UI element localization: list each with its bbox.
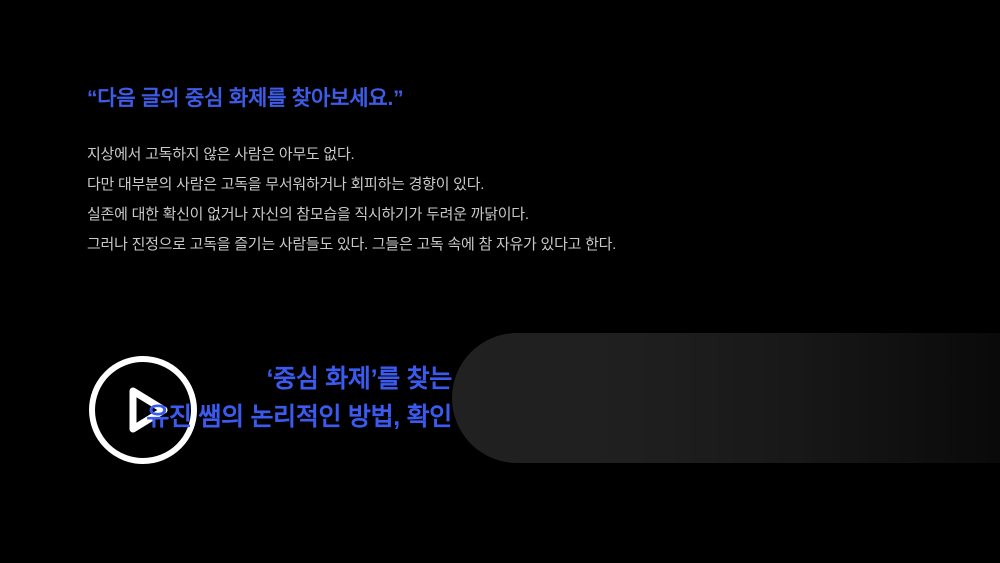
cta-pill-banner[interactable]: ‘중심 화제’를 찾는 유진 쌤의 논리적인 방법, 확인 xyxy=(452,333,1000,463)
cta-text-group: ‘중심 화제’를 찾는 유진 쌤의 논리적인 방법, 확인 xyxy=(146,333,452,463)
passage-text-block: “다음 글의 중심 화제를 찾아보세요.” 지상에서 고독하지 않은 사람은 아… xyxy=(87,86,787,260)
passage-line: 지상에서 고독하지 않은 사람은 아무도 없다. xyxy=(87,140,787,170)
passage-line: 다만 대부분의 사람은 고독을 무서워하거나 회피하는 경향이 있다. xyxy=(87,170,787,200)
prompt-heading: “다음 글의 중심 화제를 찾아보세요.” xyxy=(87,86,787,112)
cta-line: ‘중심 화제’를 찾는 xyxy=(267,360,452,398)
passage-body: 지상에서 고독하지 않은 사람은 아무도 없다. 다만 대부분의 사람은 고독을… xyxy=(87,140,787,260)
cta-line: 유진 쌤의 논리적인 방법, 확인 xyxy=(146,398,452,436)
slide-canvas: “다음 글의 중심 화제를 찾아보세요.” 지상에서 고독하지 않은 사람은 아… xyxy=(0,0,1000,563)
passage-line: 그러나 진정으로 고독을 즐기는 사람들도 있다. 그들은 고독 속에 참 자유… xyxy=(87,230,787,260)
passage-line: 실존에 대한 확신이 없거나 자신의 참모습을 직시하기가 두려운 까닭이다. xyxy=(87,200,787,230)
